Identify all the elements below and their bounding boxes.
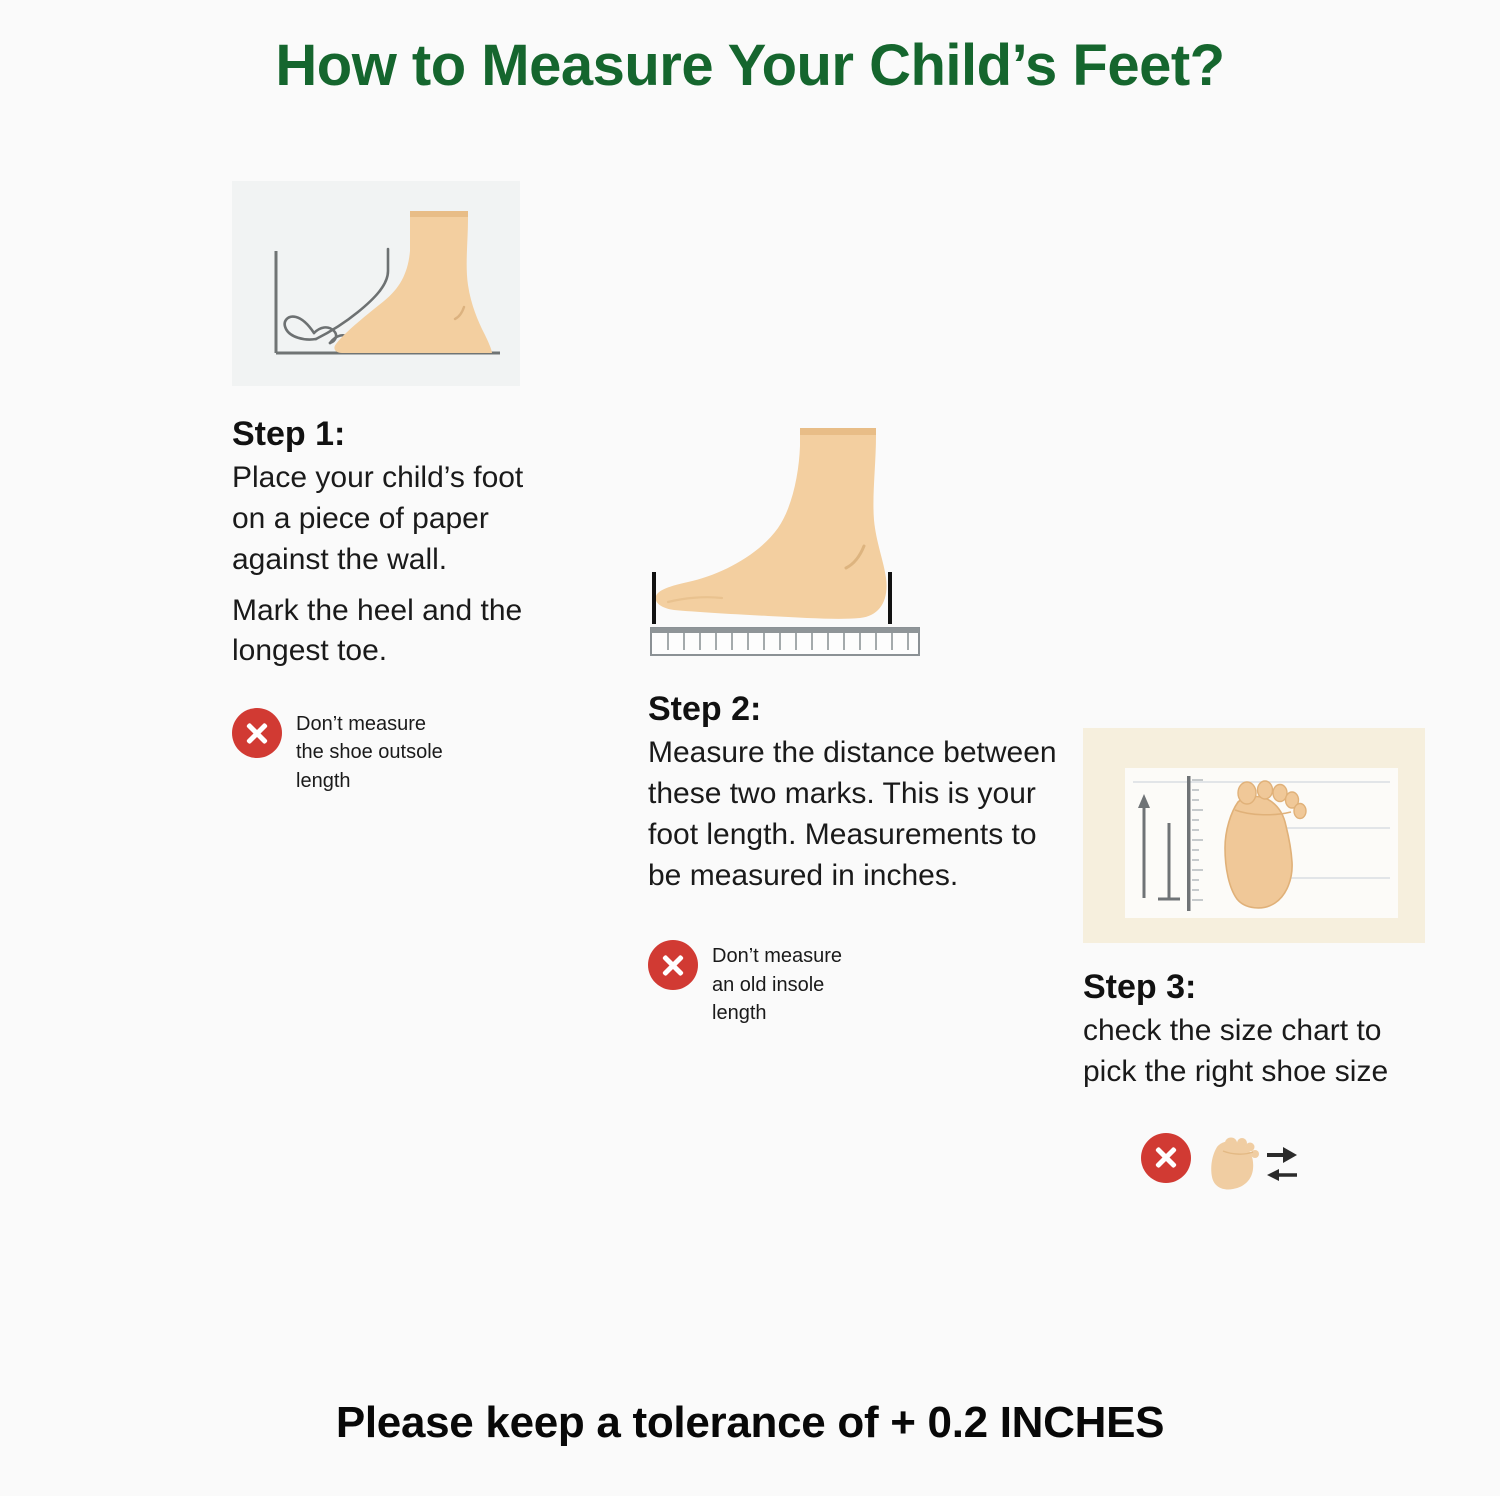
tolerance-note: Please keep a tolerance of + 0.2 INCHES bbox=[0, 1398, 1500, 1448]
height-marker-icon bbox=[1158, 823, 1180, 899]
toe-5 bbox=[1294, 804, 1306, 819]
arrow-right-icon bbox=[1267, 1147, 1297, 1163]
foot-silhouette bbox=[334, 211, 492, 353]
step-2-warning-line-1: Don’t measure bbox=[712, 942, 842, 970]
step-1-paragraph-1: Place your child’s foot on a piece of pa… bbox=[232, 458, 552, 580]
step-1-text: Step 1: Place your child’s foot on a pie… bbox=[232, 414, 552, 672]
step-2-svg bbox=[648, 420, 938, 665]
foot-silhouette bbox=[656, 428, 887, 619]
step-1-svg bbox=[232, 181, 520, 386]
size-guide-page: How to Measure Your Child’s Feet? Step 1… bbox=[0, 0, 1500, 1496]
toe-trace-curve bbox=[285, 317, 316, 340]
red-x-circle-icon bbox=[648, 940, 698, 990]
toe-2 bbox=[1258, 781, 1273, 799]
toe-big bbox=[1238, 782, 1256, 804]
ruler-edge bbox=[651, 628, 919, 633]
step-1-warning-line-3: length bbox=[296, 767, 443, 795]
toe-mark bbox=[652, 572, 656, 624]
vertical-ruler-line bbox=[1187, 776, 1191, 911]
step-2-warning-text: Don’t measure an old insole length bbox=[712, 940, 842, 1027]
foot-on-ruler-illustration bbox=[648, 420, 938, 665]
step-3-warning-graphic bbox=[1205, 1133, 1315, 1193]
step-3-warning bbox=[1141, 1133, 1443, 1193]
step-3-heading: Step 3: bbox=[1083, 967, 1433, 1007]
ankle-cuff bbox=[410, 211, 468, 217]
step-2-heading: Step 2: bbox=[648, 689, 1078, 729]
step-1-warning-line-1: Don’t measure bbox=[296, 710, 443, 738]
step-3-svg bbox=[1125, 768, 1398, 918]
size-chart-footprint-illustration bbox=[1083, 728, 1425, 943]
heel-mark bbox=[888, 572, 892, 624]
page-title: How to Measure Your Child’s Feet? bbox=[0, 32, 1500, 99]
step-2-block: Step 2: Measure the distance between the… bbox=[648, 420, 1088, 1027]
step-2-warning-line-3: length bbox=[712, 999, 842, 1027]
step-3-paragraph-1: check the size chart to pick the right s… bbox=[1083, 1011, 1433, 1093]
small-toe-4 bbox=[1251, 1150, 1259, 1158]
step-2-warning: Don’t measure an old insole length bbox=[648, 940, 1088, 1027]
arrow-up-icon bbox=[1138, 794, 1150, 898]
step-2-warning-line-2: an old insole bbox=[712, 971, 842, 999]
step-1-warning-text: Don’t measure the shoe outsole length bbox=[296, 708, 443, 795]
step-2-text: Step 2: Measure the distance between the… bbox=[648, 689, 1078, 896]
ankle-cuff bbox=[800, 428, 876, 435]
small-toe-1 bbox=[1225, 1137, 1237, 1148]
small-toe-3 bbox=[1246, 1142, 1255, 1151]
step-3-block: Step 3: check the size chart to pick the… bbox=[1083, 728, 1443, 1193]
step-3-body: check the size chart to pick the right s… bbox=[1083, 1011, 1433, 1093]
red-x-circle-icon bbox=[1141, 1133, 1191, 1183]
step-1-block: Step 1: Place your child’s foot on a pie… bbox=[232, 181, 562, 795]
step-1-body: Place your child’s foot on a piece of pa… bbox=[232, 458, 552, 672]
foot-against-wall-illustration bbox=[232, 181, 520, 386]
step-1-heading: Step 1: bbox=[232, 414, 552, 454]
arrow-left-icon bbox=[1267, 1169, 1297, 1181]
step-1-warning-line-2: the shoe outsole bbox=[296, 738, 443, 766]
vertical-ruler-ticks bbox=[1192, 780, 1203, 900]
footprint-with-arrows-svg bbox=[1205, 1135, 1315, 1193]
red-x-circle-icon bbox=[232, 708, 282, 758]
step-1-paragraph-2: Mark the heel and the longest toe. bbox=[232, 591, 552, 673]
step-2-paragraph-1: Measure the distance between these two m… bbox=[648, 733, 1078, 896]
step-1-warning: Don’t measure the shoe outsole length bbox=[232, 708, 562, 795]
step-3-text: Step 3: check the size chart to pick the… bbox=[1083, 967, 1433, 1093]
size-chart-inner-panel bbox=[1125, 768, 1398, 918]
small-toe-2 bbox=[1237, 1138, 1247, 1148]
step-2-body: Measure the distance between these two m… bbox=[648, 733, 1078, 896]
